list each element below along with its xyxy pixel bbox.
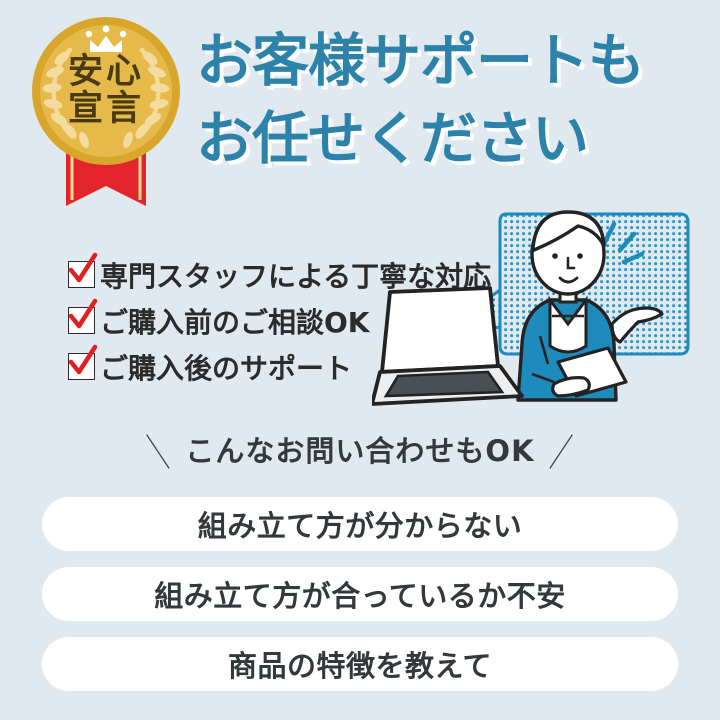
list-item-label: ご購入後のサポート [100, 347, 352, 387]
inquiry-pill[interactable]: 商品の特徴を教えて [42, 637, 678, 691]
badge-line-1: 安心 [22, 54, 190, 91]
inquiry-pill[interactable]: 組み立て方が分からない [42, 497, 678, 551]
checkbox-checked-icon [68, 353, 95, 380]
inquiry-examples-list: 組み立て方が分からない 組み立て方が合っているか不安 商品の特徴を教えて [42, 497, 678, 707]
promo-banner: 安心 宣言 お客様サポートも お任せください 専門スタッフによる丁寧な対応 ご購… [0, 0, 720, 720]
checkmark-icon [67, 253, 99, 287]
slash-left-icon: ＼ [145, 424, 171, 478]
badge-text: 安心 宣言 [22, 54, 190, 128]
page-title-line-1: お客様サポートも [196, 22, 716, 100]
inquiry-pill[interactable]: 組み立て方が合っているか不安 [42, 567, 678, 621]
inquiry-pill-label: 組み立て方が分からない [198, 503, 523, 545]
page-title-line-2: お任せください [196, 100, 716, 178]
support-staff-illustration [372, 196, 720, 436]
checkbox-checked-icon [68, 261, 95, 288]
sub-headline-text: こんなお問い合わせもOK [185, 434, 534, 468]
checkmark-icon [67, 345, 99, 379]
slash-right-icon: ／ [549, 424, 575, 478]
checkbox-checked-icon [68, 307, 95, 334]
list-item-label: ご購入前のご相談OK [100, 301, 370, 341]
checkmark-icon [67, 299, 99, 333]
inquiry-pill-label: 組み立て方が合っているか不安 [154, 573, 566, 615]
page-title: お客様サポートも お任せください [196, 22, 716, 178]
sub-headline: ＼こんなお問い合わせもOK／ [0, 428, 720, 470]
badge-line-2: 宣言 [22, 91, 190, 128]
inquiry-pill-label: 商品の特徴を教えて [228, 643, 492, 685]
anshin-sengen-badge: 安心 宣言 [22, 14, 190, 210]
illustration-graphic [372, 196, 720, 436]
